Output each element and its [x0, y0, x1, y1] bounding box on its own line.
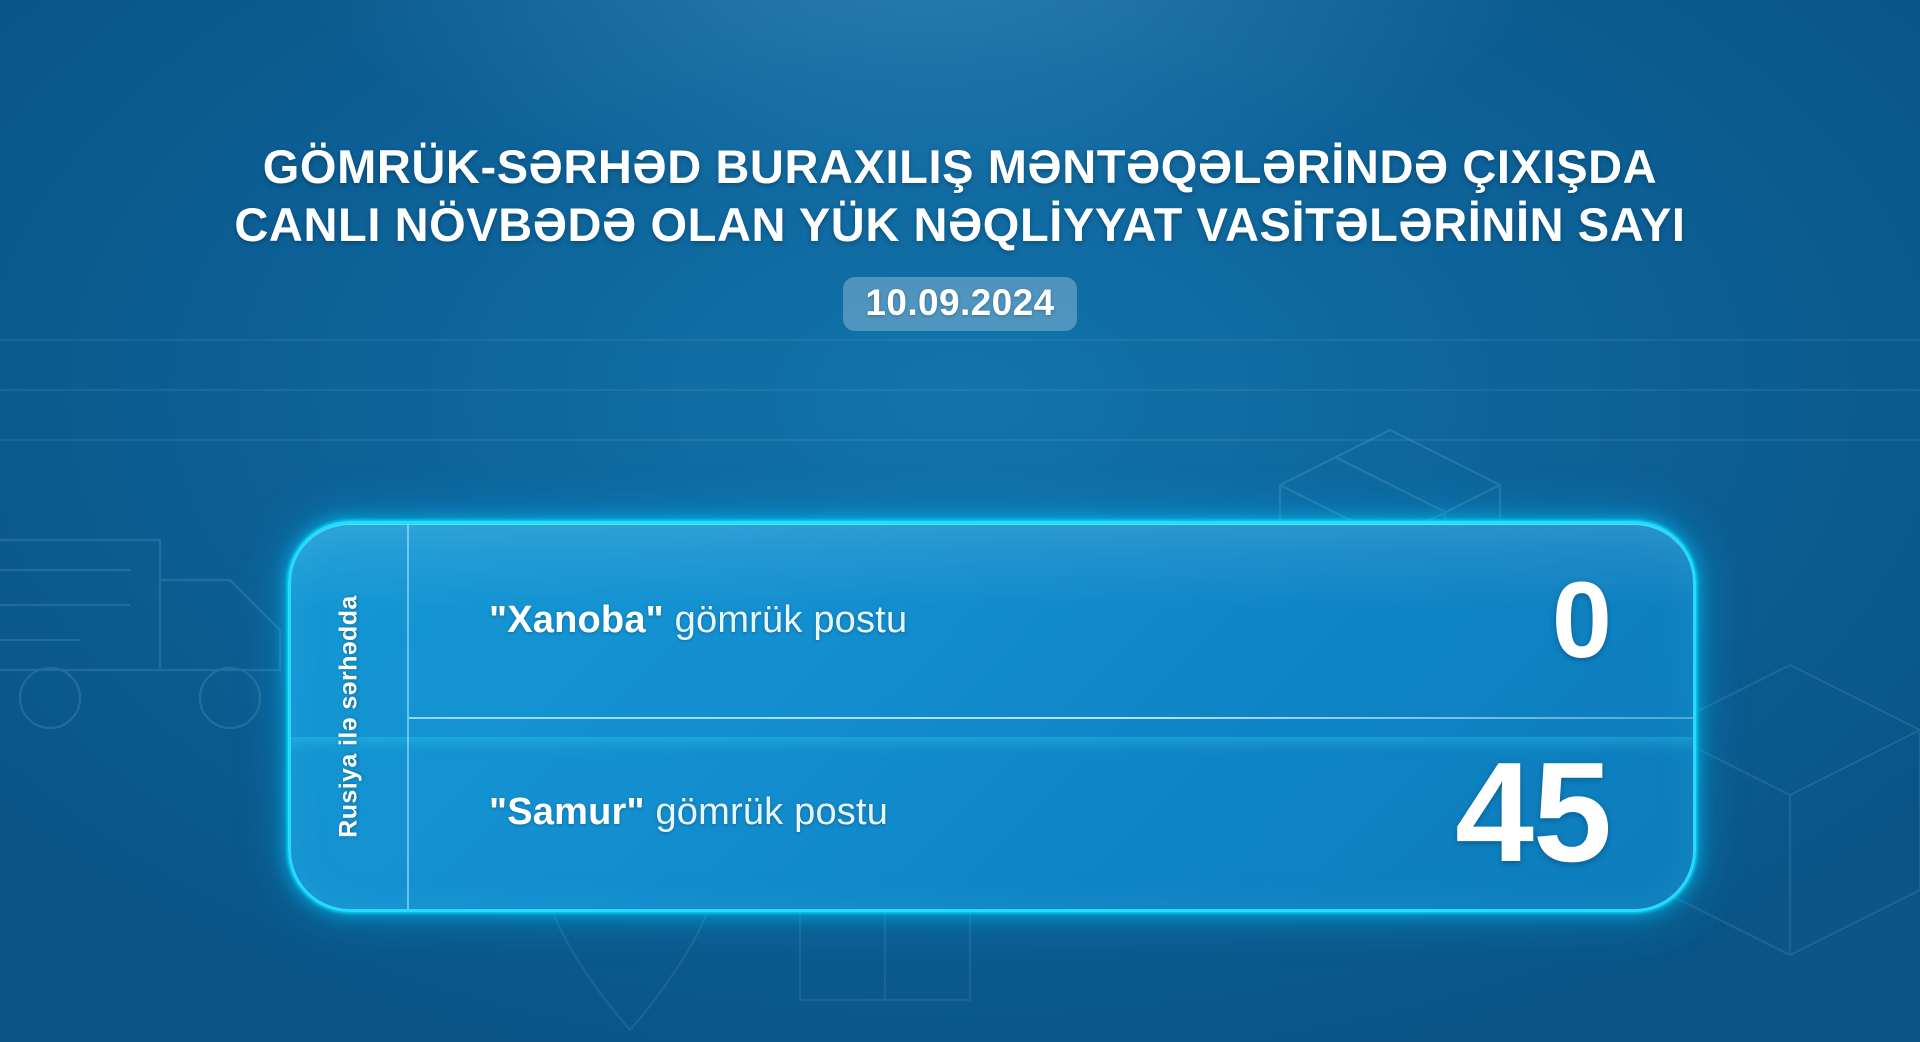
- table-row: "Xanoba" gömrük postu 0: [409, 524, 1693, 717]
- customs-post-name: "Xanoba": [489, 599, 664, 641]
- customs-post-name: "Samur": [489, 791, 645, 833]
- page-title-line-1: GÖMRÜK-SƏRHƏD BURAXILIŞ MƏNTƏQƏLƏRİNDƏ Ç…: [0, 138, 1920, 196]
- rows-container: "Xanoba" gömrük postu 0 "Samur" gömrük p…: [409, 524, 1693, 909]
- infographic-canvas: GÖMRÜK-SƏRHƏD BURAXILIŞ MƏNTƏQƏLƏRİNDƏ Ç…: [0, 0, 1920, 1042]
- table-row: "Samur" gömrük postu 45: [409, 717, 1693, 910]
- border-group-label-text: Rusiya ilə sərhədda: [335, 595, 364, 837]
- border-group-label: Rusiya ilə sərhədda: [291, 524, 409, 909]
- row-label: "Samur" gömrük postu: [489, 791, 1455, 834]
- customs-post-suffix: gömrük postu: [664, 599, 907, 641]
- customs-post-suffix: gömrük postu: [645, 791, 888, 833]
- row-value: 45: [1455, 742, 1611, 884]
- page-title-line-2: CANLI NÖVBƏDƏ OLAN YÜK NƏQLİYYAT VASİTƏL…: [0, 196, 1920, 254]
- decorative-lines: [0, 330, 1920, 450]
- data-card: Rusiya ilə sərhədda "Xanoba" gömrük post…: [288, 521, 1696, 912]
- row-value: 0: [1461, 566, 1611, 674]
- row-label: "Xanoba" gömrük postu: [489, 599, 1461, 642]
- truck-outline-icon: [0, 470, 320, 790]
- date-badge: 10.09.2024: [843, 277, 1076, 332]
- header: GÖMRÜK-SƏRHƏD BURAXILIŞ MƏNTƏQƏLƏRİNDƏ Ç…: [0, 138, 1920, 331]
